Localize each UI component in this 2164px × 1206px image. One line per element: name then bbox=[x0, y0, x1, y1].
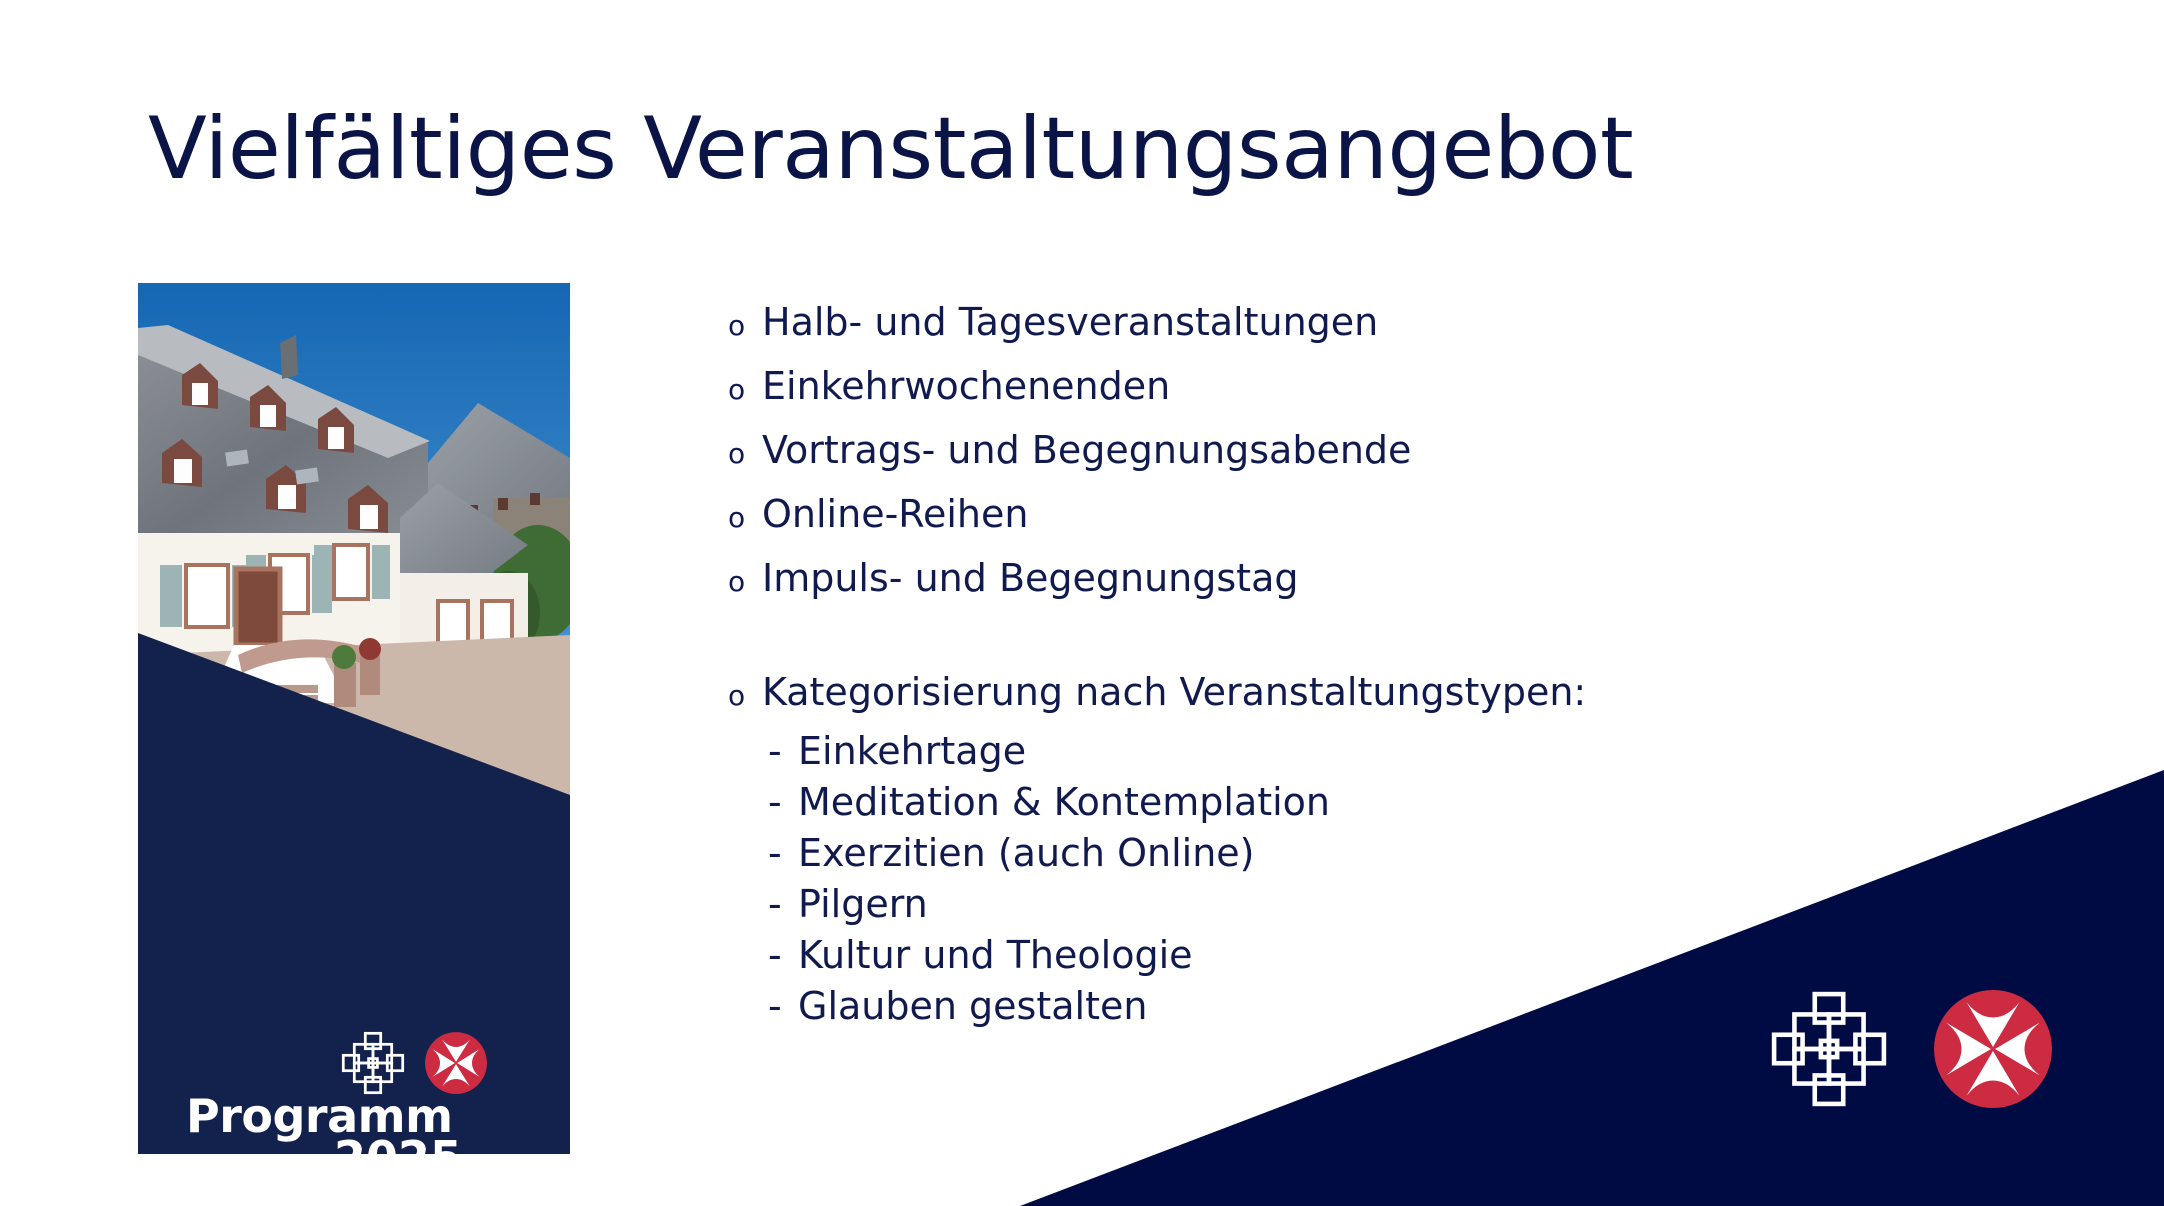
bullet-marker-icon: o bbox=[728, 552, 762, 612]
bullet-marker-icon: o bbox=[728, 360, 762, 420]
johanniter-square-cross-icon bbox=[340, 1030, 406, 1096]
brochure-year: 2025 bbox=[334, 1135, 462, 1154]
list-item-label: Halb- und Tagesveranstaltungen bbox=[762, 292, 1378, 352]
dash-marker-icon: - bbox=[768, 777, 798, 828]
dash-marker-icon: - bbox=[768, 828, 798, 879]
sub-list-item-label: Kultur und Theologie bbox=[798, 930, 1193, 981]
slide-canvas: Vielfältiges Veranstaltungsangebot bbox=[0, 0, 2164, 1206]
list-item: o Vortrags- und Begegnungsabende bbox=[728, 420, 1908, 484]
sub-list-item: - Kultur und Theologie bbox=[728, 930, 1908, 981]
maltese-cross-icon bbox=[424, 1031, 488, 1095]
list-item-label: Kategorisierung nach Veranstaltungstypen… bbox=[762, 662, 1586, 722]
bullet-marker-icon: o bbox=[728, 424, 762, 484]
sub-list-item: - Exerzitien (auch Online) bbox=[728, 828, 1908, 879]
dash-marker-icon: - bbox=[768, 879, 798, 930]
footer-logo-pair bbox=[1768, 988, 2054, 1110]
sub-list-item: - Meditation & Kontemplation bbox=[728, 777, 1908, 828]
list-item-label: Vortrags- und Begegnungsabende bbox=[762, 420, 1411, 480]
list-item-label: Impuls- und Begegnungstag bbox=[762, 548, 1299, 608]
sub-list-item-label: Einkehrtage bbox=[798, 726, 1026, 777]
dash-marker-icon: - bbox=[768, 930, 798, 981]
sub-list-item-label: Exerzitien (auch Online) bbox=[798, 828, 1254, 879]
maltese-cross-icon bbox=[1932, 988, 2054, 1110]
brochure-logo-pair bbox=[340, 1030, 488, 1096]
bullet-marker-icon: o bbox=[728, 296, 762, 356]
sub-list-item-label: Meditation & Kontemplation bbox=[798, 777, 1330, 828]
sub-list-item: - Pilgern bbox=[728, 879, 1908, 930]
page-title: Vielfältiges Veranstaltungsangebot bbox=[148, 106, 1633, 192]
list-item-label: Online-Reihen bbox=[762, 484, 1028, 544]
sub-list-item: - Glauben gestalten bbox=[728, 981, 1908, 1032]
list-item: o Einkehrwochenenden bbox=[728, 356, 1908, 420]
list-item: o Halb- und Tagesveranstaltungen bbox=[728, 292, 1908, 356]
dash-marker-icon: - bbox=[768, 981, 798, 1032]
sub-list-item-label: Pilgern bbox=[798, 879, 928, 930]
sub-list-item: - Einkehrtage bbox=[728, 726, 1908, 777]
sub-list-item-label: Glauben gestalten bbox=[798, 981, 1147, 1032]
dash-marker-icon: - bbox=[768, 726, 798, 777]
brochure-text-block: Programm 2025 Geistliches Zentrum Nieder… bbox=[138, 283, 570, 1154]
list-item: o Impuls- und Begegnungstag bbox=[728, 548, 1908, 612]
list-item: o Online-Reihen bbox=[728, 484, 1908, 548]
johanniter-square-cross-icon bbox=[1768, 988, 1890, 1110]
bullet-marker-icon: o bbox=[728, 666, 762, 726]
bullet-marker-icon: o bbox=[728, 488, 762, 548]
bullet-content: o Halb- und Tagesveranstaltungen o Einke… bbox=[728, 292, 1908, 1032]
brochure-card: Programm 2025 Geistliches Zentrum Nieder… bbox=[138, 283, 570, 1154]
list-group-spacer bbox=[728, 612, 1908, 662]
list-item-label: Einkehrwochenenden bbox=[762, 356, 1170, 416]
list-item-heading: o Kategorisierung nach Veranstaltungstyp… bbox=[728, 662, 1908, 726]
